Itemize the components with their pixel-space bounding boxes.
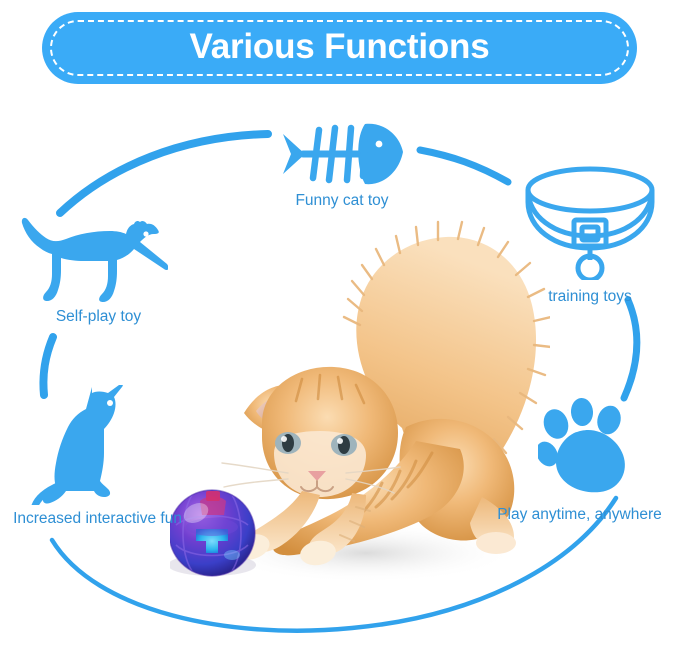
kitten-head [222, 367, 400, 499]
feature-node-training-toys[interactable]: training toys [505, 162, 675, 317]
feature-label-training-toys: training toys [505, 288, 675, 305]
poster-canvas: Various Functions [0, 0, 679, 664]
feature-node-funny-cat-toy[interactable]: Funny cat toy [252, 118, 432, 218]
pet-collar-icon [518, 162, 662, 280]
paw-print-icon [538, 398, 638, 494]
feature-label-increased-interactive-fun: Increased interactive fun [0, 510, 195, 527]
feature-node-increased-interactive-fun[interactable]: Increased interactive fun [0, 385, 195, 537]
walking-cat-silhouette-icon [18, 212, 168, 302]
feature-label-play-anytime-anywhere: Play anytime, anywhere [480, 506, 679, 523]
fish-bone-icon [279, 118, 405, 190]
feature-node-play-anytime-anywhere[interactable]: Play anytime, anywhere [480, 398, 679, 533]
arc-fish-to-collar [420, 150, 508, 182]
feature-node-self-play-toy[interactable]: Self-play toy [6, 212, 191, 337]
feature-label-self-play-toy: Self-play toy [6, 308, 191, 325]
feature-label-funny-cat-toy: Funny cat toy [252, 192, 432, 209]
sitting-cat-silhouette-icon [30, 385, 142, 505]
arc-walkcat-to-fish [60, 134, 268, 213]
kitten-rear-paw [476, 532, 516, 554]
